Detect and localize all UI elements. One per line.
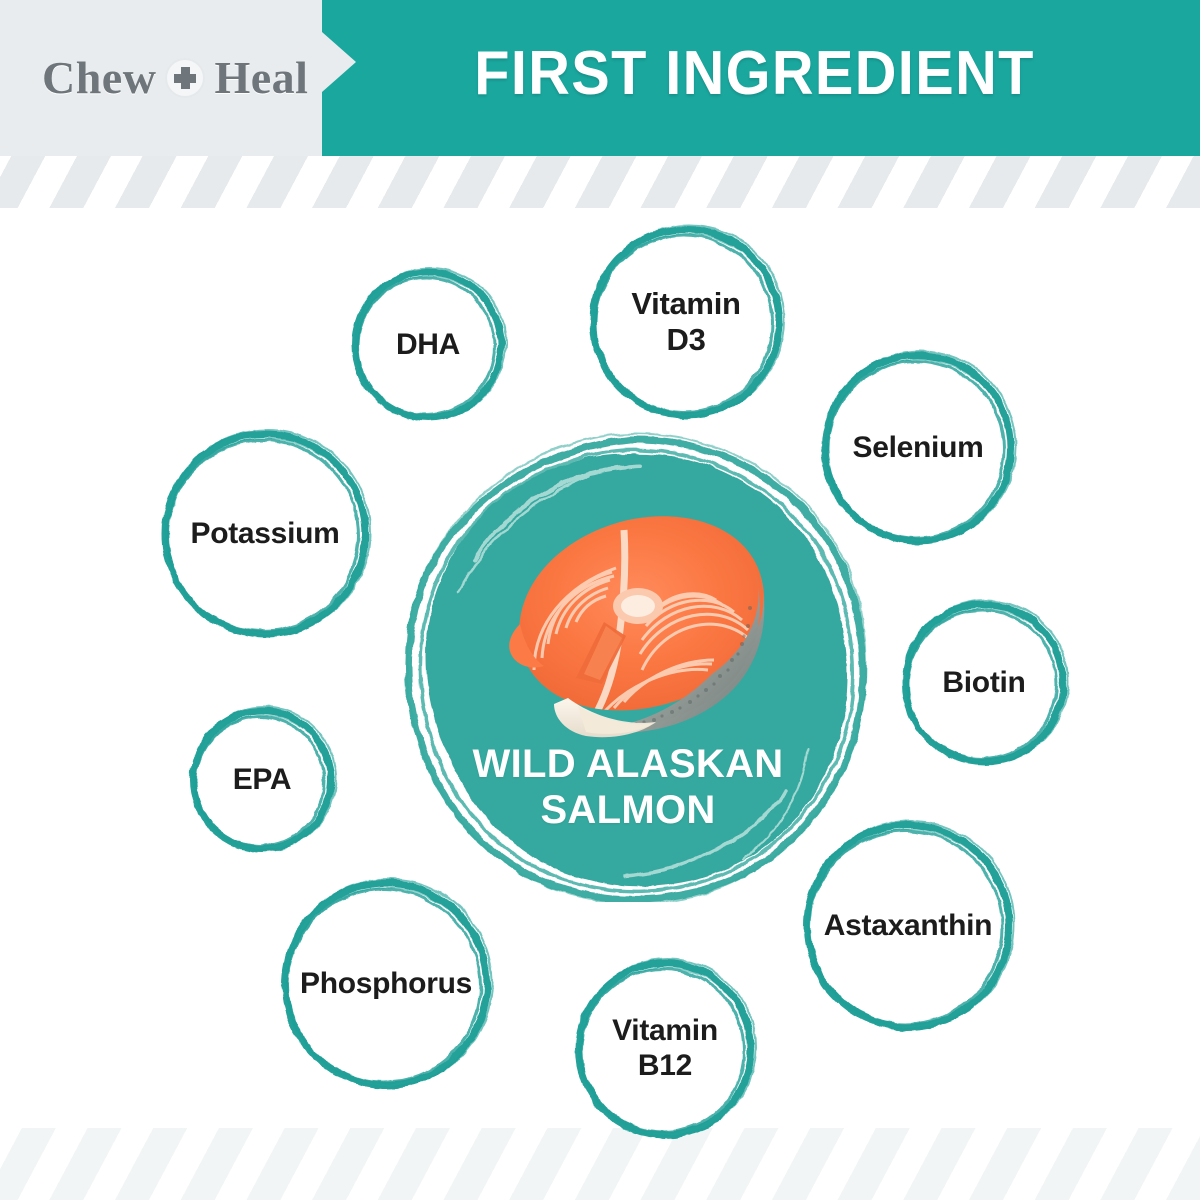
page-title: FIRST INGREDIENT bbox=[353, 38, 1170, 109]
plus-circle-icon bbox=[165, 58, 205, 98]
nutrient-bubble-selenium[interactable]: Selenium bbox=[818, 348, 1018, 548]
logo-word-heal: Heal bbox=[214, 55, 308, 101]
nutrient-bubble-label: DHA bbox=[390, 328, 466, 363]
nutrient-bubble-label: Vitamin B12 bbox=[606, 1014, 724, 1084]
ingredient-diagram: WILD ALASKAN SALMON DHAVitamin D3Seleniu… bbox=[0, 0, 1200, 1200]
nutrient-bubble-label: Potassium bbox=[184, 517, 345, 552]
nutrient-bubble-label: EPA bbox=[227, 763, 298, 798]
infographic-page: Chew Heal FIRST INGREDIENT bbox=[0, 0, 1200, 1200]
nutrient-bubble-biotin[interactable]: Biotin bbox=[898, 597, 1070, 769]
nutrient-bubble-label: Selenium bbox=[847, 431, 990, 466]
salmon-steak-photo bbox=[456, 494, 786, 742]
nutrient-bubble-label: Phosphorus bbox=[294, 967, 478, 1002]
nutrient-bubble-potassium[interactable]: Potassium bbox=[158, 427, 372, 641]
nutrient-bubble-label: Biotin bbox=[936, 666, 1031, 701]
nutrient-bubble-vitamin-d3[interactable]: Vitamin D3 bbox=[586, 222, 786, 422]
title-banner: FIRST INGREDIENT bbox=[322, 0, 1200, 156]
nutrient-bubble-dha[interactable]: DHA bbox=[348, 265, 508, 425]
nutrient-bubble-label: Vitamin D3 bbox=[625, 286, 746, 358]
logo-word-chew: Chew bbox=[42, 55, 156, 101]
brand-logo: Chew Heal bbox=[42, 46, 308, 110]
nutrient-bubble-epa[interactable]: EPA bbox=[186, 704, 338, 856]
nutrient-bubble-vitamin-b12[interactable]: Vitamin B12 bbox=[572, 956, 758, 1142]
nutrient-bubble-astaxanthin[interactable]: Astaxanthin bbox=[800, 818, 1016, 1034]
nutrient-bubble-label: Astaxanthin bbox=[818, 909, 998, 944]
nutrient-bubble-phosphorus[interactable]: Phosphorus bbox=[278, 876, 494, 1092]
